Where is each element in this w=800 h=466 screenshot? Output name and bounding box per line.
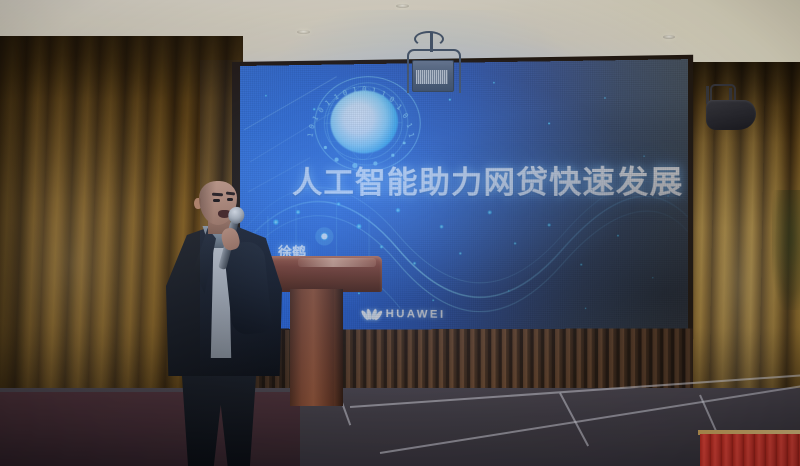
stage-light-grille xyxy=(416,70,448,84)
downlight-icon xyxy=(663,35,675,39)
slide-title: 人工智能助力网贷快速发展 xyxy=(292,156,683,202)
stage-light-fixture xyxy=(398,30,466,98)
globe-core xyxy=(330,90,398,153)
ceiling-speaker xyxy=(700,82,760,132)
presentation-photo-scene: 1 0 1 0 1 1 0 1 0 1 1 0 1 0 1 1 xyxy=(0,0,800,466)
svg-text:1: 1 xyxy=(311,115,320,123)
svg-text:0: 0 xyxy=(308,123,317,130)
presenter xyxy=(166,168,282,466)
red-table-skirt xyxy=(700,434,800,466)
svg-text:1: 1 xyxy=(404,122,413,130)
presenter-legs xyxy=(176,364,262,466)
lectern-top-highlight xyxy=(298,258,376,267)
downlight-icon xyxy=(297,30,310,34)
huawei-wordmark: HUAWEI xyxy=(386,308,446,321)
svg-text:0: 0 xyxy=(317,106,326,115)
svg-text:1: 1 xyxy=(306,132,315,138)
potted-plant xyxy=(772,190,800,310)
downlight-icon xyxy=(396,4,409,8)
speaker-enclosure xyxy=(706,100,756,130)
svg-text:1: 1 xyxy=(406,132,415,139)
stage-light-hook-icon xyxy=(414,31,444,47)
lectern-column-edge xyxy=(334,289,343,406)
